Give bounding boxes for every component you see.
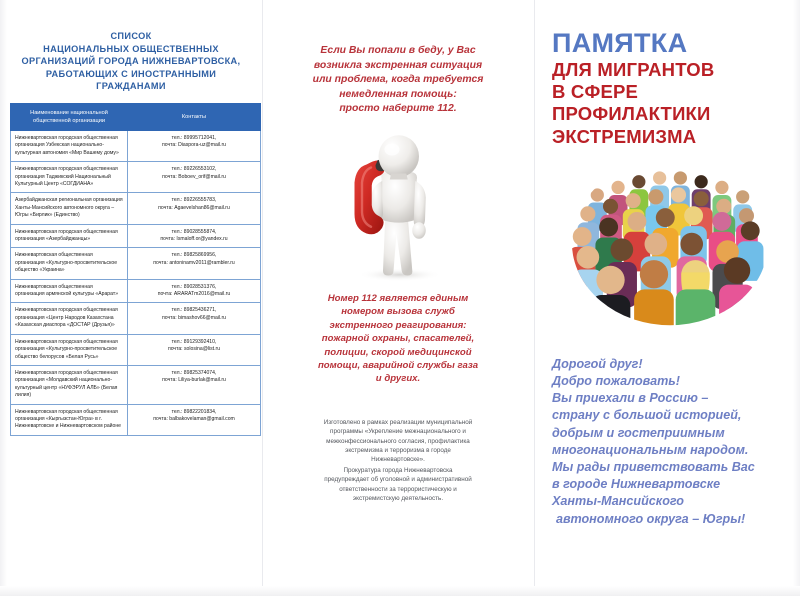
contact-phone: тел.: 89825436271, [132, 307, 256, 314]
cell-organization-name: Нижневартовская городская общественная о… [11, 404, 128, 435]
cell-contacts: тел.: 89226555783, почта: Agaevelshan86@… [128, 193, 261, 224]
cell-organization-name: Нижневартовская общественная организация… [11, 279, 128, 303]
contact-phone: тел.: 89995712041, [132, 135, 256, 142]
cell-organization-name: Нижневартовская городская общественная о… [11, 224, 128, 248]
cell-organization-name: Нижневартовская городская общественная о… [11, 130, 128, 161]
cell-contacts: тел.: 89825436271, почта: bimashov66@mai… [128, 303, 261, 334]
subtitle-line-2: В СФЕРЕ [552, 81, 786, 103]
person-with-telephone-illustration [278, 121, 518, 286]
heading-line-2: НАЦИОНАЛЬНЫХ ОБЩЕСТВЕННЫХ [10, 43, 252, 56]
welcome-line-5: добрым и гостеприимным [552, 425, 786, 442]
table-row: Нижневартовская городская общественная о… [11, 303, 261, 334]
cell-organization-name: Нижневартовская городская общественная о… [11, 162, 128, 193]
welcome-line-7: Мы рады приветствовать Вас [552, 459, 786, 476]
table-row: Нижневартовская городская общественная о… [11, 334, 261, 365]
cell-contacts: тел.: 89028555874, почта: Ismaloff.or@ya… [128, 224, 261, 248]
fine-print-2-line-4: экстремистскую деятельность. [286, 494, 510, 503]
heading-line-3: ОРГАНИЗАЦИЙ ГОРОДА НИЖНЕВАРТОВСКА, [10, 55, 252, 68]
table-row: Нижневартовская городская общественная о… [11, 404, 261, 435]
fine-print-2-line-1: Прокуратура города Нижневартовска [286, 466, 510, 475]
contact-email: почта: balbakovelaman@gmail.com [132, 416, 256, 423]
welcome-line-6: многонациональным народом. [552, 442, 786, 459]
column-header-organization-name: Наименование национальной общественной о… [11, 103, 128, 130]
fine-print-prosecutor-warning: Прокуратура города Нижневартовска предуп… [286, 466, 510, 504]
subtitle-line-1: ДЛЯ МИГРАНТОВ [552, 59, 786, 81]
contact-phone: тел.: 89028531376, [132, 284, 256, 291]
emergency-112-description: Номер 112 является единым номером вызова… [278, 292, 518, 386]
welcome-line-10: автономного округа – Югры! [552, 511, 786, 528]
panel-cover: ПАМЯТКА ДЛЯ МИГРАНТОВ В СФЕРЕ ПРОФИЛАКТИ… [534, 0, 800, 596]
cell-contacts: тел.: 89226553102, почта: Boboev_orif@ma… [128, 162, 261, 193]
contact-email: почта: Agaevelshan86@mail.ru [132, 205, 256, 212]
contact-email: почта: Liliya-burlak@mail.ru [132, 377, 256, 384]
cell-contacts: тел.: 89825374074, почта: Liliya-burlak@… [128, 365, 261, 404]
welcome-line-2: Добро пожаловать! [552, 373, 786, 390]
table-row: Нижневартовская общественная организация… [11, 279, 261, 303]
call-line-2: возникла экстренная ситуация [278, 59, 518, 74]
welcome-message: Дорогой друг! Добро пожаловать! Вы приех… [552, 356, 786, 528]
panel-emergency-112: Если Вы попали в беду, у Вас возникла эк… [262, 0, 534, 596]
contact-email: почта: solosina@list.ru [132, 346, 256, 353]
contact-phone: тел.: 89129392410, [132, 339, 256, 346]
table-row: Нижневартовская городская общественная о… [11, 365, 261, 404]
info-line-6: помощи, аварийной службы газа [278, 359, 518, 372]
organizations-table-body: Нижневартовская городская общественная о… [11, 130, 261, 435]
table-row: Нижневартовская городская общественная о… [11, 224, 261, 248]
fine-print-block: Изготовлено в рамках реализации муниципа… [278, 418, 518, 504]
table-row: Нижневартовская городская общественная о… [11, 130, 261, 161]
subtitle-line-4: ЭКСТРЕМИЗМА [552, 126, 786, 148]
table-header-row: Наименование национальной общественной о… [11, 103, 261, 130]
contact-phone: тел.: 89825869956, [132, 252, 256, 259]
fine-print-1-line-4: экстремизма и терроризма в городе [286, 446, 510, 455]
page-subtitle: ДЛЯ МИГРАНТОВ В СФЕРЕ ПРОФИЛАКТИКИ ЭКСТР… [552, 59, 786, 148]
cell-organization-name: Нижневартовская городская общественная о… [11, 303, 128, 334]
cell-organization-name: Нижневартовская городская общественная о… [11, 334, 128, 365]
table-row: Нижневартовская общественная организация… [11, 248, 261, 279]
organizations-table: Наименование национальной общественной о… [10, 103, 261, 436]
heading-line-5: ГРАЖДАНАМИ [10, 80, 252, 93]
contact-phone: тел.: 89822201834, [132, 409, 256, 416]
panel-organizations-list: СПИСОК НАЦИОНАЛЬНЫХ ОБЩЕСТВЕННЫХ ОРГАНИЗ… [0, 0, 262, 596]
fine-print-1-line-3: межконфессионального согласия, профилакт… [286, 437, 510, 446]
column-header-contacts: Контакты [128, 103, 261, 130]
cell-contacts: тел.: 89822201834, почта: balbakovelaman… [128, 404, 261, 435]
contact-email: почта: Diaspora-uz@mail.ru [132, 142, 256, 149]
call-line-4: немедленная помощь: [278, 88, 518, 103]
info-line-2: номером вызова служб [278, 305, 518, 318]
brochure-page: СПИСОК НАЦИОНАЛЬНЫХ ОБЩЕСТВЕННЫХ ОРГАНИЗ… [0, 0, 800, 596]
contact-email: почта: Boboev_orif@mail.ru [132, 174, 256, 181]
info-line-7: и других. [278, 372, 518, 385]
fine-print-1-line-2: программы «Укрепление межнационального и [286, 427, 510, 436]
crowd-illustration [552, 150, 786, 340]
heading-line-4: РАБОТАЮЩИХ С ИНОСТРАННЫМИ [10, 68, 252, 81]
fine-print-2-line-2: предупреждает об уголовной и администрат… [286, 475, 510, 484]
page-title: ПАМЯТКА [552, 28, 786, 58]
table-row: Азербайджанская региональная организация… [11, 193, 261, 224]
info-line-1: Номер 112 является единым [278, 292, 518, 305]
contact-email: почта: antoninamv2011@rambler.ru [132, 260, 256, 267]
fine-print-2-line-3: ответственности за террористическую и [286, 485, 510, 494]
subtitle-line-3: ПРОФИЛАКТИКИ [552, 103, 786, 125]
call-line-3: или проблема, когда требуется [278, 73, 518, 88]
contact-phone: тел.: 89226555783, [132, 197, 256, 204]
welcome-line-8: в городе Нижневартовске [552, 476, 786, 493]
cell-contacts: тел.: 89129392410, почта: solosina@list.… [128, 334, 261, 365]
welcome-line-3: Вы приехали в Россию – [552, 390, 786, 407]
cell-organization-name: Нижневартовская общественная организация… [11, 248, 128, 279]
welcome-line-9: Ханты-Мансийского [552, 493, 786, 510]
call-line-1: Если Вы попали в беду, у Вас [278, 44, 518, 59]
welcome-line-4: страну с большой историей, [552, 407, 786, 424]
contact-email: почта: ARARATm2016@mail.ru [132, 291, 256, 298]
info-line-5: полиции, скорой медицинской [278, 346, 518, 359]
organizations-list-heading: СПИСОК НАЦИОНАЛЬНЫХ ОБЩЕСТВЕННЫХ ОРГАНИЗ… [10, 30, 252, 93]
info-line-4: пожарной охраны, спасателей, [278, 332, 518, 345]
cell-contacts: тел.: 89995712041, почта: Diaspora-uz@ma… [128, 130, 261, 161]
cell-organization-name: Азербайджанская региональная организация… [11, 193, 128, 224]
call-line-5: просто наберите 112. [278, 102, 518, 117]
table-row: Нижневартовская городская общественная о… [11, 162, 261, 193]
fine-print-1-line-5: Нижневартовске». [286, 455, 510, 464]
cell-organization-name: Нижневартовская городская общественная о… [11, 365, 128, 404]
emergency-call-to-action: Если Вы попали в беду, у Вас возникла эк… [278, 44, 518, 117]
cell-contacts: тел.: 89028531376, почта: ARARATm2016@ma… [128, 279, 261, 303]
fine-print-program: Изготовлено в рамках реализации муниципа… [286, 418, 510, 465]
contact-email: почта: Ismaloff.or@yandex.ru [132, 236, 256, 243]
fine-print-1-line-1: Изготовлено в рамках реализации муниципа… [286, 418, 510, 427]
contact-email: почта: bimashov66@mail.ru [132, 315, 256, 322]
contact-phone: тел.: 89226553102, [132, 166, 256, 173]
welcome-line-1: Дорогой друг! [552, 356, 786, 373]
contact-phone: тел.: 89825374074, [132, 370, 256, 377]
info-line-3: экстренного реагирования: [278, 319, 518, 332]
heading-line-1: СПИСОК [10, 30, 252, 43]
cell-contacts: тел.: 89825869956, почта: antoninamv2011… [128, 248, 261, 279]
contact-phone: тел.: 89028555874, [132, 229, 256, 236]
